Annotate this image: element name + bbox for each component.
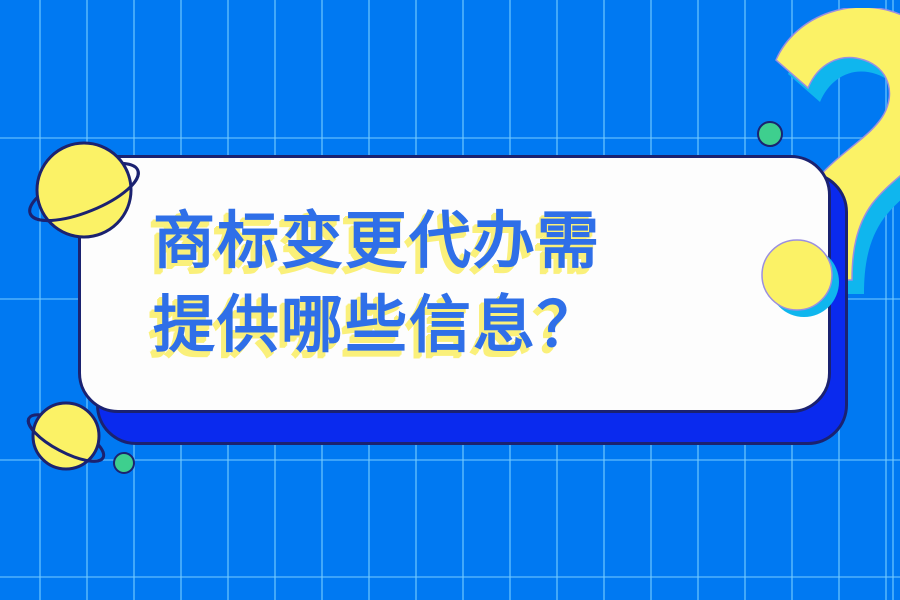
- headline-line-1: 商标变更代办需: [153, 200, 601, 284]
- green-dot-top-right-icon: [757, 121, 783, 147]
- headline-card: 商标变更代办需 提供哪些信息？: [78, 155, 831, 413]
- green-dot-bottom-left-icon: [113, 452, 135, 474]
- poster-canvas: 商标变更代办需 提供哪些信息？: [0, 0, 900, 600]
- headline-line-2: 提供哪些信息？: [153, 284, 601, 368]
- question-mark-dot-icon: [759, 237, 841, 319]
- saturn-planet-top-left-icon: [22, 134, 146, 246]
- saturn-planet-bottom-left-icon: [22, 396, 110, 476]
